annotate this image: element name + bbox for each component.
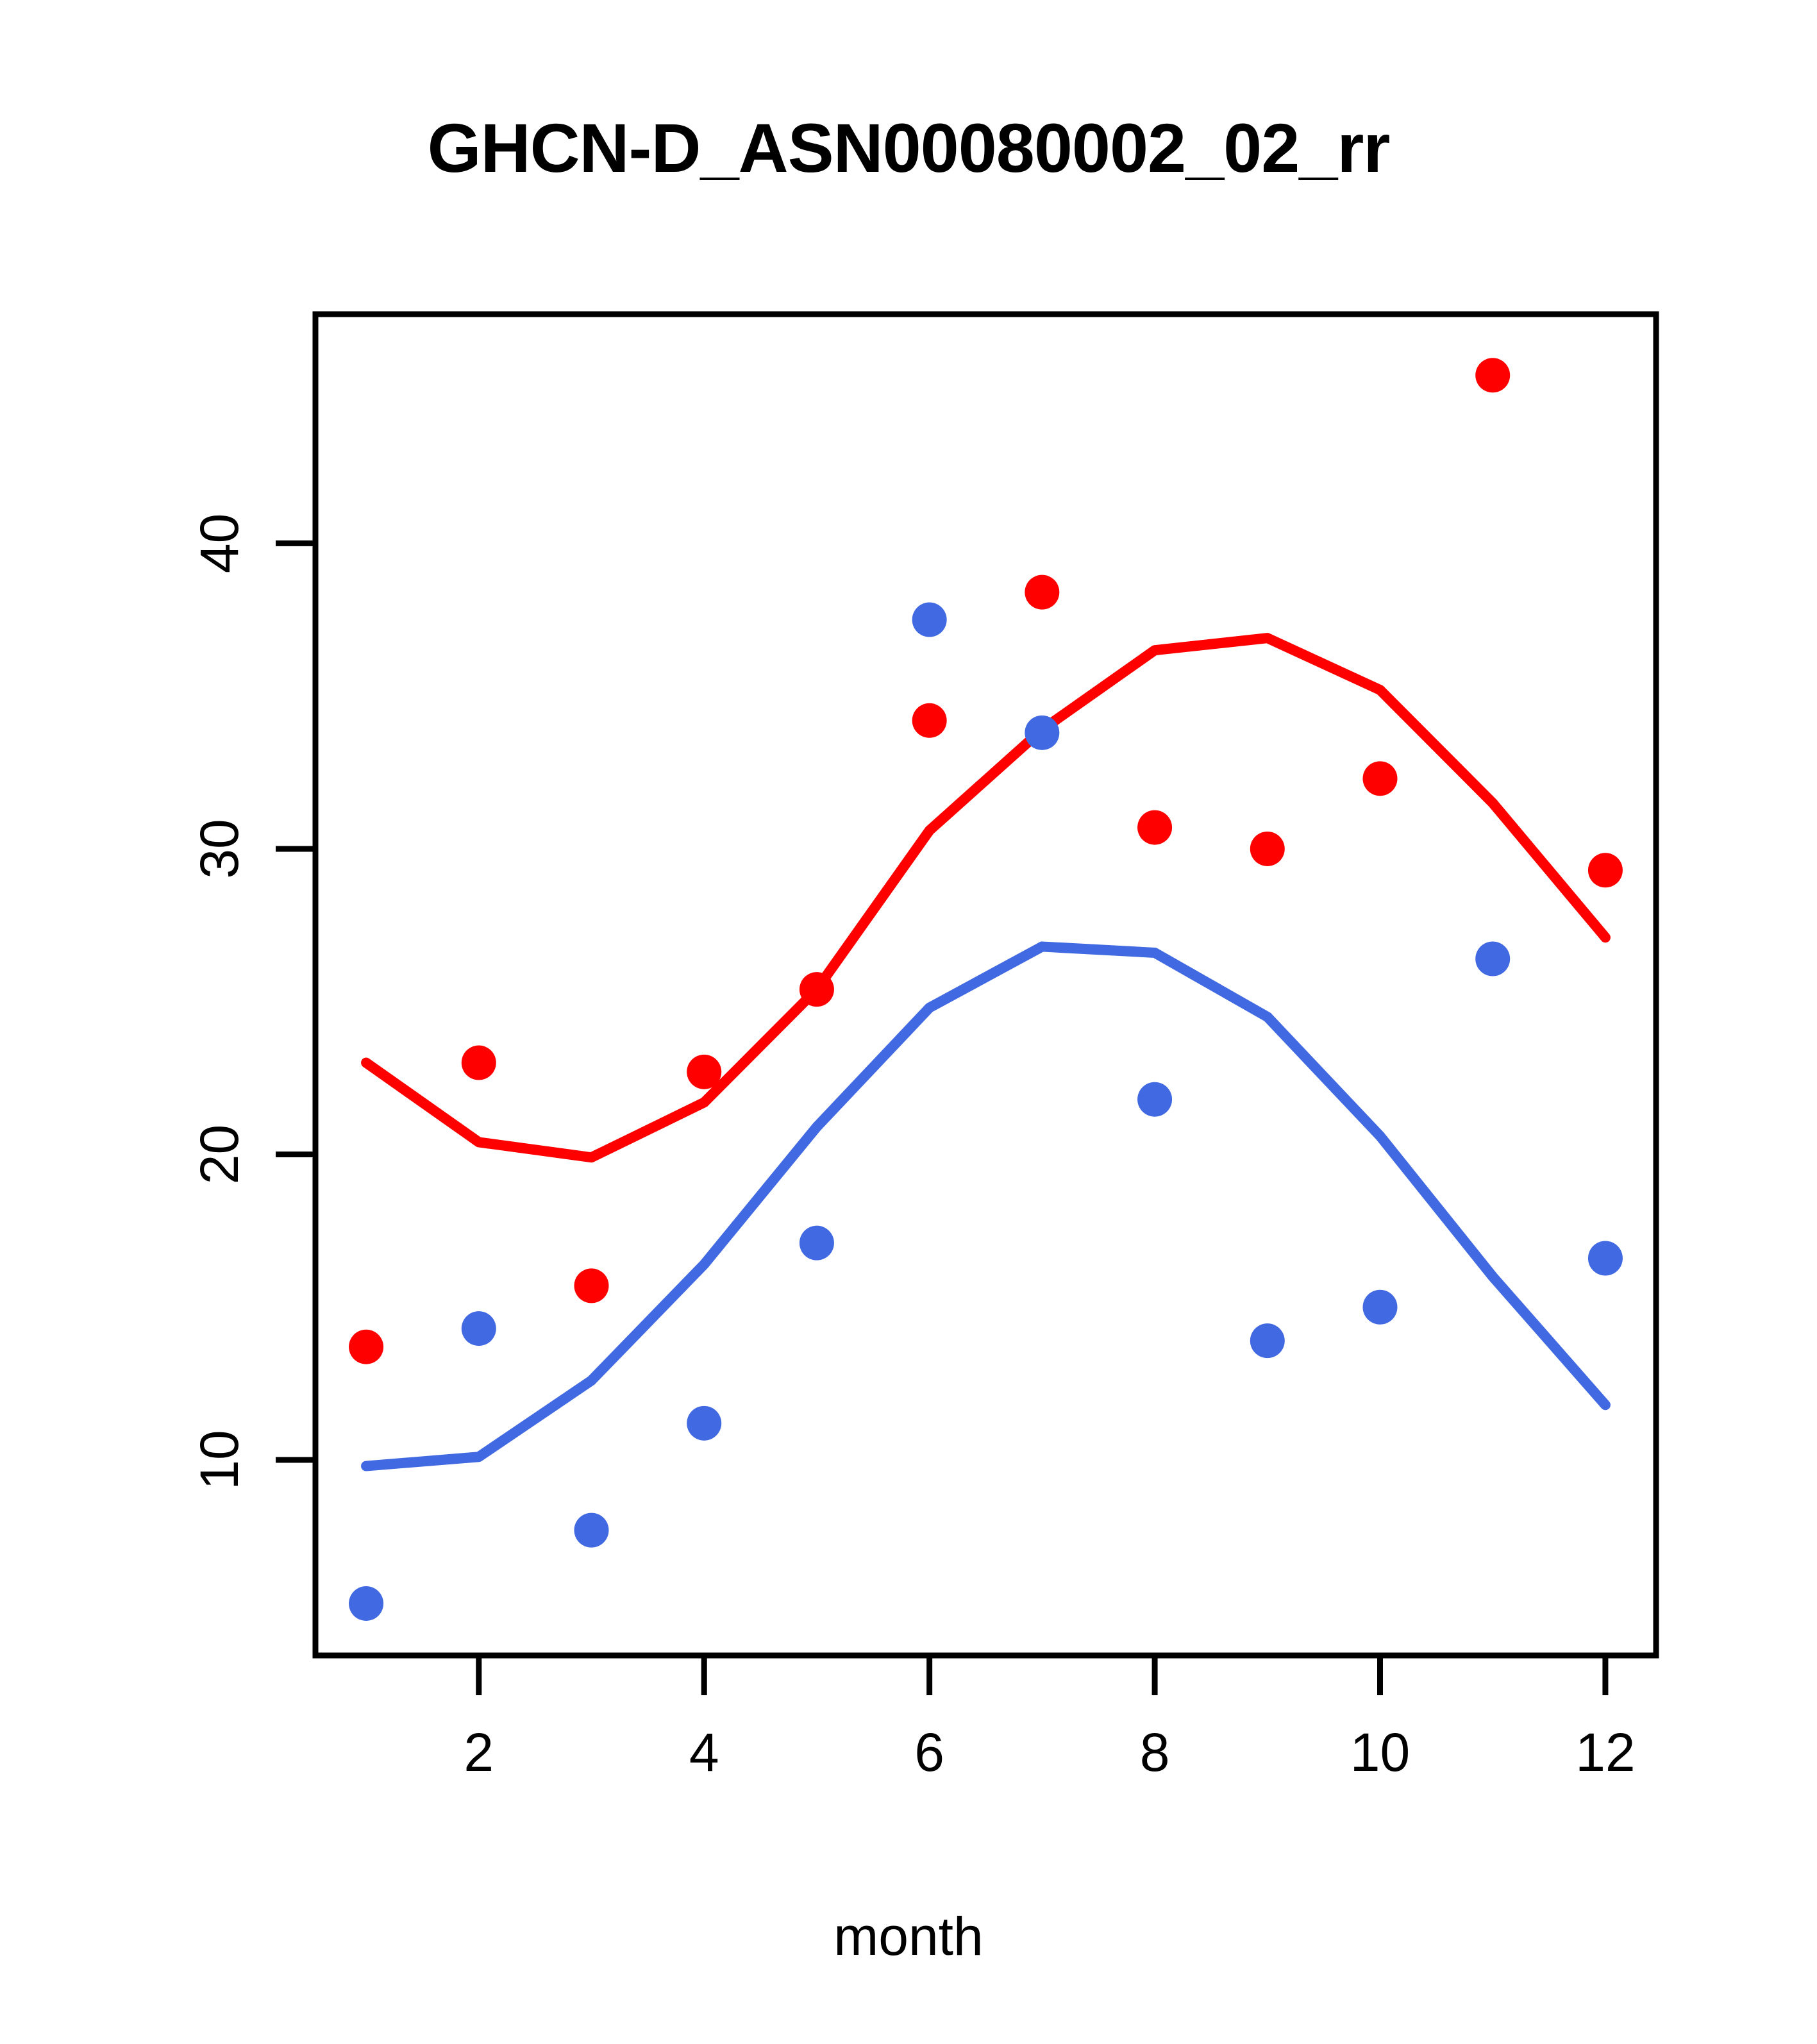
data-point xyxy=(1475,358,1510,392)
data-point xyxy=(1250,1323,1285,1358)
x-tick-label-8: 8 xyxy=(1140,1722,1170,1782)
y-tick-label-10: 10 xyxy=(189,1430,249,1489)
x-tick-label-12: 12 xyxy=(1575,1722,1635,1782)
data-point xyxy=(912,703,947,738)
data-point xyxy=(1588,1241,1623,1276)
y-axis-ticks xyxy=(276,543,315,1460)
x-tick-label-6: 6 xyxy=(914,1722,944,1782)
series-lines xyxy=(366,638,1605,1466)
y-tick-label-30: 30 xyxy=(189,819,249,878)
data-point xyxy=(349,1330,383,1364)
y-axis-tick-labels: 10203040 xyxy=(189,514,249,1490)
data-point xyxy=(1250,832,1285,866)
data-point xyxy=(1475,941,1510,976)
blue-line xyxy=(366,946,1605,1466)
data-point xyxy=(687,1406,721,1441)
data-point xyxy=(1363,761,1398,796)
x-tick-label-10: 10 xyxy=(1350,1722,1410,1782)
data-point xyxy=(1137,1082,1172,1117)
data-point xyxy=(349,1586,383,1621)
plot-canvas: 24681012 10203040 xyxy=(0,0,1817,2044)
series-points xyxy=(349,358,1623,1621)
y-tick-label-40: 40 xyxy=(189,514,249,573)
x-axis-tick-labels: 24681012 xyxy=(464,1722,1635,1782)
red-points xyxy=(349,358,1623,1364)
plot-frame xyxy=(315,314,1656,1655)
blue-points xyxy=(349,603,1623,1621)
data-point xyxy=(574,1268,609,1303)
data-point xyxy=(1588,853,1623,887)
data-point xyxy=(1025,716,1059,750)
data-point xyxy=(800,972,834,1007)
y-tick-label-20: 20 xyxy=(189,1125,249,1184)
red-line xyxy=(366,638,1605,1157)
data-point xyxy=(574,1513,609,1548)
data-point xyxy=(1137,810,1172,845)
x-axis-label: month xyxy=(0,1906,1817,1968)
x-tick-label-4: 4 xyxy=(689,1722,719,1782)
chart-container: GHCN-D_ASN00080002_02_rr 24681012 102030… xyxy=(0,0,1817,2044)
data-point xyxy=(462,1046,496,1080)
data-point xyxy=(462,1311,496,1346)
data-point xyxy=(1363,1290,1398,1325)
data-point xyxy=(800,1226,834,1261)
data-point xyxy=(1025,575,1059,610)
x-tick-label-2: 2 xyxy=(464,1722,494,1782)
data-point xyxy=(912,603,947,637)
x-axis-ticks xyxy=(479,1655,1605,1695)
data-point xyxy=(687,1055,721,1089)
